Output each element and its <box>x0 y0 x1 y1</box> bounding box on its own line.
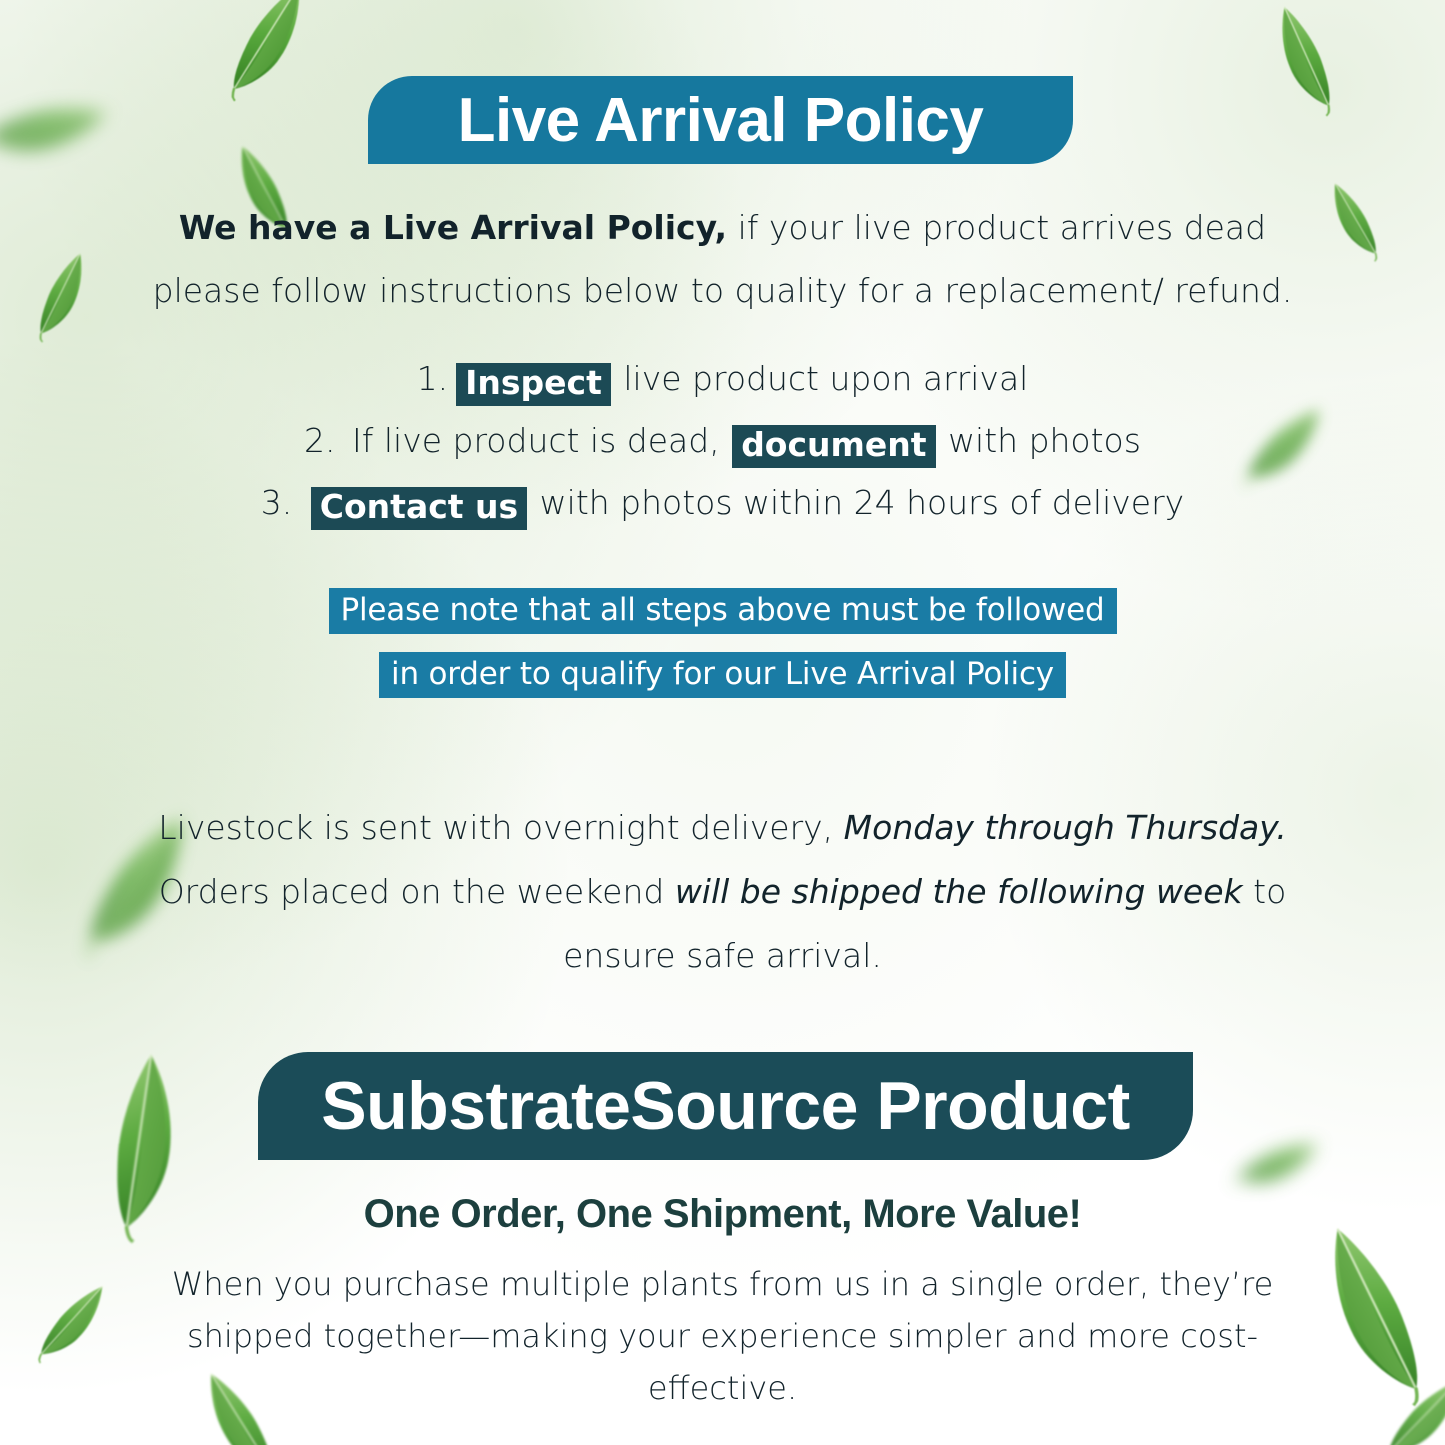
intro-paragraph: We have a Live Arrival Policy, if your l… <box>150 196 1295 322</box>
leaf-top-left-blur <box>0 62 118 190</box>
livestock-part-1: Livestock is sent with overnight deliver… <box>158 808 843 847</box>
leaf-bottom-right-far <box>1369 1372 1445 1445</box>
step-highlight: Inspect <box>456 363 611 406</box>
livestock-italic-1: Monday through Thursday. <box>844 808 1287 847</box>
note-line-2: in order to qualify for our Live Arrival… <box>379 652 1066 698</box>
step-text-after: with photos within 24 hours of delivery <box>529 483 1184 522</box>
step-number: 3. <box>261 483 293 522</box>
step-item: 1.Inspect live product upon arrival <box>150 348 1295 410</box>
leaf-bottom-left-small <box>21 1278 124 1364</box>
step-text-after: live product upon arrival <box>613 359 1028 398</box>
note-line-1: Please note that all steps above must be… <box>329 588 1117 634</box>
steps-list: 1.Inspect live product upon arrival2. If… <box>150 348 1295 534</box>
policy-note: Please note that all steps above must be… <box>150 578 1295 706</box>
leaf-bottom-right <box>1272 1214 1445 1406</box>
leaf-top-center <box>194 0 340 105</box>
step-highlight: document <box>732 425 935 468</box>
note-line-1-wrap: Please note that all steps above must be… <box>150 578 1295 642</box>
intro-strong: We have a Live Arrival Policy, <box>179 208 727 247</box>
note-line-2-wrap: in order to qualify for our Live Arrival… <box>150 642 1295 706</box>
live-arrival-policy-banner: Live Arrival Policy <box>368 76 1073 164</box>
value-subheading: One Order, One Shipment, More Value! <box>150 1192 1295 1237</box>
step-text-after: with photos <box>938 421 1141 460</box>
closing-paragraph: When you purchase multiple plants from u… <box>150 1258 1295 1414</box>
step-item: 2. If live product is dead, document wit… <box>150 410 1295 472</box>
step-number: 2. <box>304 421 336 460</box>
step-number: 1. <box>417 359 449 398</box>
leaf-left-mid <box>7 243 114 344</box>
step-item: 3. Contact us with photos within 24 hour… <box>150 472 1295 534</box>
step-text-before: If live product is dead, <box>342 421 731 460</box>
livestock-shipping-paragraph: Livestock is sent with overnight deliver… <box>150 796 1295 988</box>
leaf-right-upper <box>1307 174 1404 263</box>
substratesource-product-banner: SubstrateSource Product <box>258 1052 1193 1160</box>
livestock-italic-2: will be shipped the following week <box>675 872 1243 911</box>
step-highlight: Contact us <box>311 487 527 530</box>
livestock-part-2: Orders placed on the weekend <box>159 872 675 911</box>
step-text-before <box>298 483 309 522</box>
leaf-top-right <box>1241 0 1371 119</box>
policy-graphic: Live Arrival Policy We have a Live Arriv… <box>0 0 1445 1445</box>
